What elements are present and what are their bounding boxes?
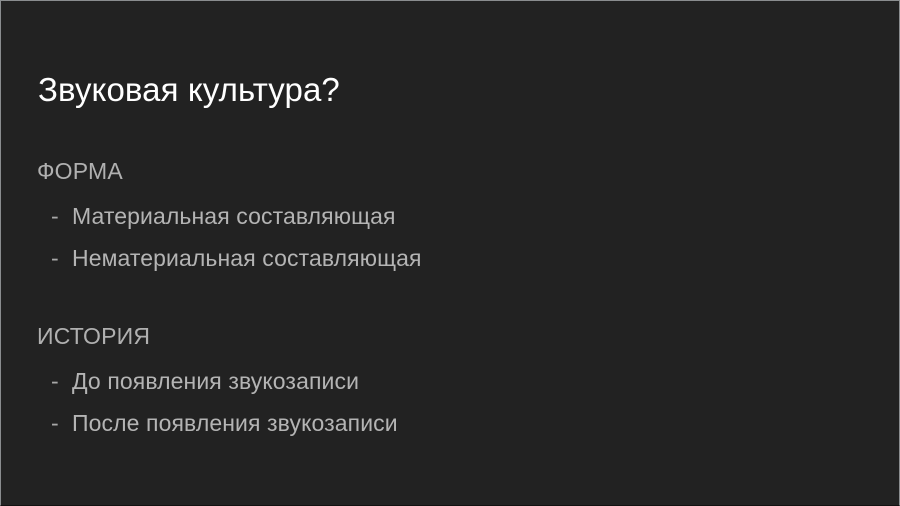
list-item-label: До появления звукозаписи xyxy=(72,360,359,402)
bullet-list-istoriya: - До появления звукозаписи - После появл… xyxy=(37,360,869,444)
dash-bullet-icon: - xyxy=(37,195,72,237)
section-istoriya: ИСТОРИЯ - До появления звукозаписи - Пос… xyxy=(37,321,869,444)
list-item: - После появления звукозаписи xyxy=(37,402,869,444)
section-forma: ФОРМА - Материальная составляющая - Нема… xyxy=(37,156,869,279)
bullet-list-forma: - Материальная составляющая - Нематериал… xyxy=(37,195,869,279)
list-item-label: Нематериальная составляющая xyxy=(72,237,422,279)
list-item: - Материальная составляющая xyxy=(37,195,869,237)
slide-content-area: Звуковая культура? ФОРМА - Материальная … xyxy=(1,1,899,505)
list-item-label: После появления звукозаписи xyxy=(72,402,398,444)
page-title: Звуковая культура? xyxy=(38,70,340,110)
dash-bullet-icon: - xyxy=(37,402,72,444)
list-item-label: Материальная составляющая xyxy=(72,195,396,237)
list-item: - Нематериальная составляющая xyxy=(37,237,869,279)
section-heading-istoriya: ИСТОРИЯ xyxy=(37,321,869,351)
presentation-slide: Звуковая культура? ФОРМА - Материальная … xyxy=(0,0,900,506)
list-item: - До появления звукозаписи xyxy=(37,360,869,402)
section-heading-forma: ФОРМА xyxy=(37,156,869,186)
dash-bullet-icon: - xyxy=(37,237,72,279)
dash-bullet-icon: - xyxy=(37,360,72,402)
